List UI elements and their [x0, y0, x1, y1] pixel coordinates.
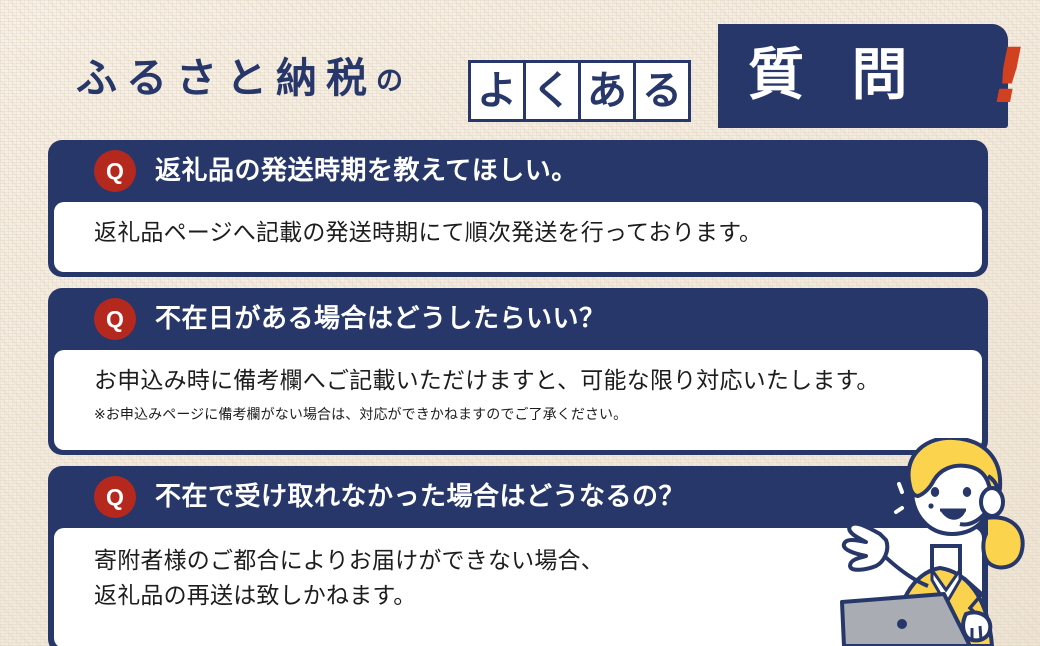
faq-question-text: 不在日がある場合はどうしたらいい？ [155, 305, 606, 334]
exclamation-mark-icon: ! [991, 38, 1026, 114]
faq-item[interactable]: Q 不在日がある場合はどうしたらいい？ お申込み時に備考欄へご記載いただけますと… [48, 288, 988, 455]
boxed-char-1: よ [468, 60, 526, 122]
faq-answer-panel: お申込み時に備考欄へご記載いただけますと、可能な限り対応いたします。 ※お申込み… [54, 350, 982, 450]
faq-question-text: 不在で受け取れなかった場合はどうなるの？ [155, 483, 685, 512]
faq-question-header: Q 不在で受け取れなかった場合はどうなるの？ [48, 466, 988, 528]
faq-item[interactable]: Q 返礼品の発送時期を教えてほしい。 返礼品ページへ記載の発送時期にて順次発送を… [48, 140, 988, 277]
faq-poster: ふるさと納税の よ く あ る 質 問 ! Q 返礼品の発送時期を教えてほしい。… [0, 0, 1040, 646]
page-title: ふるさと納税の [76, 58, 405, 99]
faq-list: Q 返礼品の発送時期を教えてほしい。 返礼品ページへ記載の発送時期にて順次発送を… [48, 140, 988, 646]
boxed-char-3: あ [578, 60, 636, 122]
faq-answer-text: 返礼品ページへ記載の発送時期にて順次発送を行っております。 [94, 216, 956, 251]
title-particle: の [376, 66, 405, 97]
faq-question-header: Q 不在日がある場合はどうしたらいい？ [48, 288, 988, 350]
faq-answer-panel: 寄附者様のご都合によりお届けができない場合、 返礼品の再送は致しかねます。 [54, 528, 982, 646]
boxed-chars-row: よ く あ る [468, 60, 688, 122]
boxed-char-2: く [523, 60, 581, 122]
question-badge-icon: Q [94, 476, 136, 518]
boxed-char-4: る [633, 60, 691, 122]
faq-answer-text: 寄附者様のご都合によりお届けができない場合、 [94, 544, 956, 579]
faq-answer-note: ※お申込みページに備考欄がない場合は、対応ができかねますのでご了承ください。 [94, 404, 956, 426]
faq-answer-panel: 返礼品ページへ記載の発送時期にて順次発送を行っております。 [54, 202, 982, 272]
banner-label: 質 問 [748, 42, 922, 110]
headset-band-icon [988, 476, 999, 506]
faq-answer-text-line2: 返礼品の再送は致しかねます。 [94, 579, 956, 614]
faq-question-header: Q 返礼品の発送時期を教えてほしい。 [48, 140, 988, 202]
title-lead-text: ふるさと納税 [76, 54, 376, 102]
question-badge-icon: Q [94, 150, 136, 192]
faq-answer-text: お申込み時に備考欄へご記載いただけますと、可能な限り対応いたします。 [94, 364, 956, 399]
poster-header: ふるさと納税の よ く あ る 質 問 ! [0, 0, 1040, 140]
faq-question-text: 返礼品の発送時期を教えてほしい。 [155, 157, 578, 186]
question-banner: 質 問 ! [718, 24, 1008, 128]
question-badge-icon: Q [94, 298, 136, 340]
faq-item[interactable]: Q 不在で受け取れなかった場合はどうなるの？ 寄附者様のご都合によりお届けができ… [48, 466, 988, 646]
ponytail-icon [983, 517, 1022, 567]
